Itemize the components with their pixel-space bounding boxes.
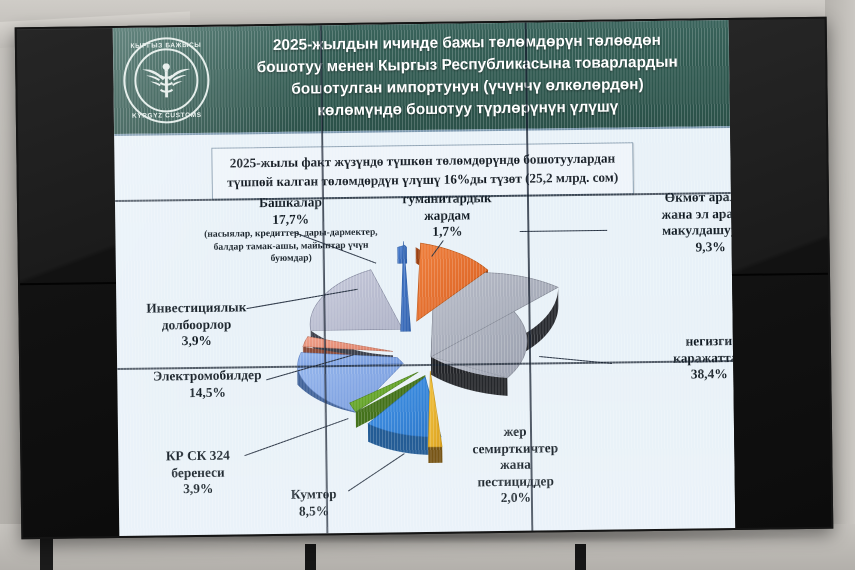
slice-label-jer-l3: жана xyxy=(440,456,590,474)
videowall-stand-leg-middle xyxy=(305,544,316,570)
slice-label-okmot-l3: макулдашуулар xyxy=(615,221,735,240)
slice-label-investment-projects: Инвестициялык долбоорлор 3,9% xyxy=(121,299,272,350)
slice-label-elektro-pct: 14,5% xyxy=(127,384,287,402)
slice-label-kumtor-l1: Кумтөр xyxy=(259,486,369,504)
slice-label-krsk-pct: 3,9% xyxy=(131,480,266,498)
slice-label-krsk-l2: беренеси xyxy=(130,464,265,482)
slice-label-okmot-l1: Өкмөт аралык xyxy=(615,188,735,207)
slice-label-negizgi-l2: каражаттар xyxy=(619,349,735,368)
slice-label-okmot-pct: 9,3% xyxy=(616,238,736,257)
video-wall-panel-left-off xyxy=(17,28,120,537)
slice-label-humanitarian-aid: гуманитардык жардам 1,7% xyxy=(383,190,512,241)
pie-chart-area: Башкалар 17,7% (насыялар, кредиттер, дар… xyxy=(115,193,735,536)
presentation-slide: КЫРГЫЗ БАЖЫСЫ KYRGYZ CUSTOMS xyxy=(113,20,736,536)
logo-text-bottom: KYRGYZ CUSTOMS xyxy=(120,112,214,120)
slice-label-negizgi-l1: негизги xyxy=(619,333,736,352)
slice-label-jer-l2: семирткичтер xyxy=(440,440,590,458)
slice-label-invest-l2: долбоорлор xyxy=(121,316,271,334)
slice-label-invest-pct: 3,9% xyxy=(122,332,272,350)
video-wall-panel-right-off xyxy=(729,19,832,528)
slide-title: 2025-жылдын ичинде бажы төлөмдөрүн төлөө… xyxy=(213,29,716,123)
slice-label-intergovernmental-agreements: Өкмөт аралык жана эл аралык макулдашуула… xyxy=(615,188,735,256)
slice-label-human-l1: гуманитардык xyxy=(383,190,511,208)
slice-label-fertilizers-pesticides: жер семирткичтер жана пестициддер 2,0% xyxy=(440,423,591,507)
slice-label-electric-vehicles: Электромобилдер 14,5% xyxy=(127,367,287,402)
slice-label-jer-l4: пестициддер xyxy=(441,472,591,490)
slice-label-okmot-l2: жана эл аралык xyxy=(615,205,735,224)
slice-label-krsk-l1: КР СК 324 xyxy=(130,448,265,466)
slice-label-kr-sk-324: КР СК 324 беренеси 3,9% xyxy=(130,448,266,499)
logo-text-top: КЫРГЫЗ БАЖЫСЫ xyxy=(119,42,213,50)
slice-label-jer-l1: жер xyxy=(440,423,590,441)
slice-label-kumtor-pct: 8,5% xyxy=(259,503,369,521)
slice-label-kumtor: Кумтөр 8,5% xyxy=(259,486,369,520)
kyrgyz-customs-logo: КЫРГЫЗ БАЖЫСЫ KYRGYZ CUSTOMS xyxy=(119,33,214,128)
videowall-stand-leg-right xyxy=(575,544,586,570)
video-wall-display: КЫРГЫЗ БАЖЫСЫ KYRGYZ CUSTOMS xyxy=(15,17,834,540)
slice-label-bashkalar-note: (насыялар, кредиттер, дары-дармектер, ба… xyxy=(203,227,378,267)
slide-header: КЫРГЫЗ БАЖЫСЫ KYRGYZ CUSTOMS xyxy=(113,20,730,136)
slice-label-bashkalar: Башкалар 17,7% (насыялар, кредиттер, дар… xyxy=(203,194,379,266)
slice-label-human-pct: 1,7% xyxy=(383,223,511,241)
slice-label-invest-l1: Инвестициялык xyxy=(121,299,271,317)
slice-label-human-l2: жардам xyxy=(383,207,511,225)
slice-label-negizgi-pct: 38,4% xyxy=(619,365,735,384)
slice-label-fixed-assets: негизги каражаттар 38,4% xyxy=(619,333,736,384)
caduceus-winged-icon xyxy=(140,57,193,104)
slice-label-jer-pct: 2,0% xyxy=(441,489,591,507)
